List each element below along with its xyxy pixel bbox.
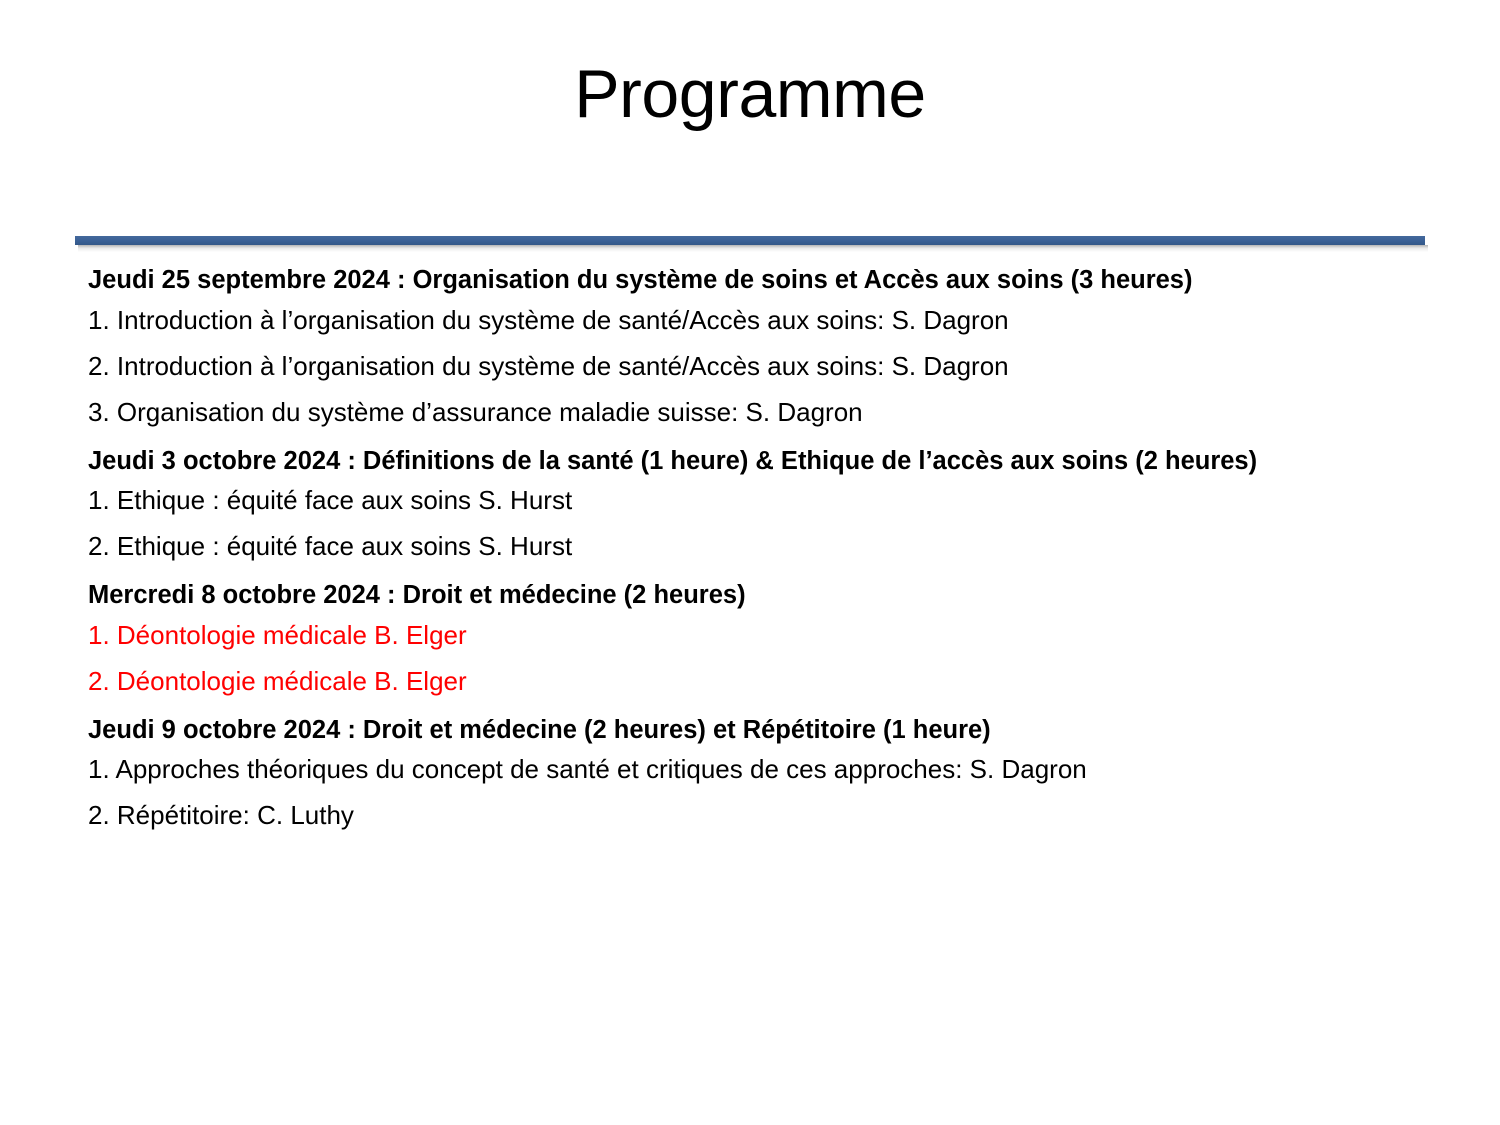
list-item: 2. Déontologie médicale B. Elger — [88, 668, 1428, 694]
section-heading: Jeudi 3 octobre 2024 : Définitions de la… — [88, 449, 1428, 488]
list-item: 2. Répétitoire: C. Luthy — [88, 802, 1428, 828]
list-item: 1. Ethique : équité face aux soins S. Hu… — [88, 487, 1428, 533]
divider-bar — [75, 236, 1425, 245]
section-heading: Mercredi 8 octobre 2024 : Droit et médec… — [88, 583, 1428, 622]
list-item: 1. Introduction à l’organisation du syst… — [88, 307, 1428, 353]
section-heading: Jeudi 25 septembre 2024 : Organisation d… — [88, 268, 1428, 307]
page-title: Programme — [0, 58, 1500, 131]
list-item: 2. Introduction à l’organisation du syst… — [88, 353, 1428, 399]
schedule-section: Jeudi 25 septembre 2024 : Organisation d… — [88, 268, 1428, 425]
schedule-section: Jeudi 9 octobre 2024 : Droit et médecine… — [88, 718, 1428, 829]
list-item: 3. Organisation du système d’assurance m… — [88, 399, 1428, 425]
schedule-section: Mercredi 8 octobre 2024 : Droit et médec… — [88, 583, 1428, 694]
presentation-slide: Programme Jeudi 25 septembre 2024 : Orga… — [0, 0, 1500, 1125]
section-heading: Jeudi 9 octobre 2024 : Droit et médecine… — [88, 718, 1428, 757]
title-divider — [75, 236, 1425, 252]
programme-schedule-list: Jeudi 25 septembre 2024 : Organisation d… — [88, 268, 1428, 828]
list-item: 2. Ethique : équité face aux soins S. Hu… — [88, 533, 1428, 559]
divider-shadow — [78, 245, 1428, 252]
schedule-section: Jeudi 3 octobre 2024 : Définitions de la… — [88, 449, 1428, 560]
list-item: 1. Approches théoriques du concept de sa… — [88, 756, 1428, 802]
list-item: 1. Déontologie médicale B. Elger — [88, 622, 1428, 668]
